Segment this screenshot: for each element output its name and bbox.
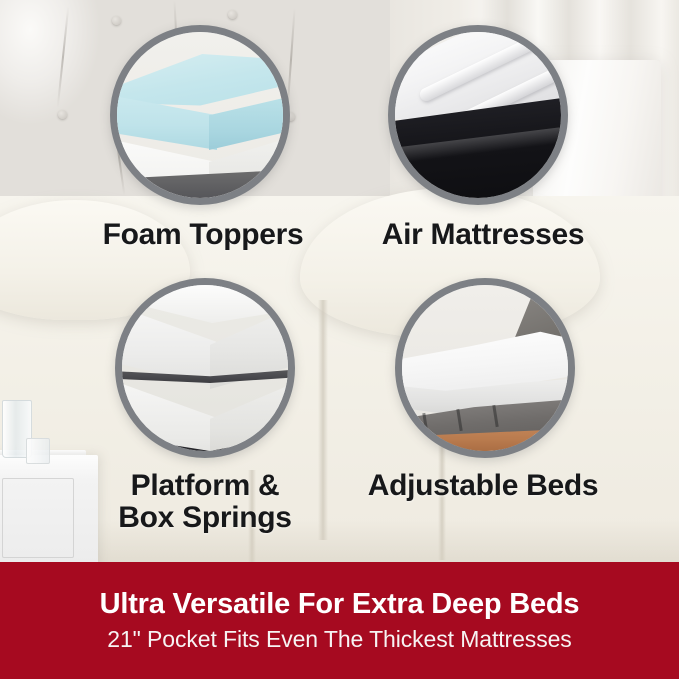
banner-headline: Ultra Versatile For Extra Deep Beds [100, 589, 580, 621]
feature-circle-foam-toppers [110, 25, 290, 205]
foam-topper-image [117, 32, 283, 198]
air-mattress-image [395, 32, 561, 198]
headboard-tuft-button [228, 10, 237, 19]
small-glass-tray [26, 438, 50, 464]
headboard-tuft-button [112, 16, 121, 25]
nightstand-drawer-panel [2, 478, 74, 558]
bottom-promo-banner: Ultra Versatile For Extra Deep Beds 21" … [0, 562, 679, 679]
feature-caption-platform-box-springs: Platform & Box Springs [80, 470, 330, 534]
feature-caption-foam-toppers: Foam Toppers [78, 219, 328, 251]
headboard-tuft-button [58, 110, 67, 119]
feature-caption-adjustable-beds: Adjustable Beds [358, 470, 608, 502]
product-feature-infographic: Foam Toppers Air Mattresses Platform & B… [0, 0, 679, 679]
adjustable-bed-image [402, 285, 568, 451]
banner-subline: 21" Pocket Fits Even The Thickest Mattre… [107, 627, 571, 652]
feature-circle-adjustable-beds [395, 278, 575, 458]
platform-box-spring-image [122, 285, 288, 451]
feature-circle-platform-box-springs [115, 278, 295, 458]
feature-caption-air-mattresses: Air Mattresses [358, 219, 608, 251]
feature-circle-air-mattresses [388, 25, 568, 205]
